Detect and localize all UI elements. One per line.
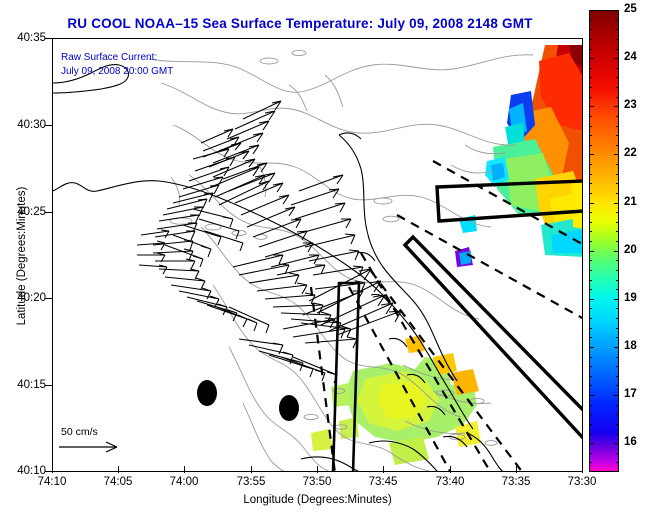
colorbar-minor-tick <box>616 10 619 11</box>
x-tick-label: 73:35 <box>486 476 546 488</box>
colorbar-minor-tick <box>589 443 592 444</box>
colorbar-minor-tick <box>616 20 619 21</box>
colorbar-minor-tick <box>589 405 592 406</box>
sst-map-figure: RU COOL NOAA–15 Sea Surface Temperature:… <box>0 0 651 518</box>
surface-current-vectors <box>137 101 401 383</box>
y-tick <box>45 298 52 299</box>
colorbar-minor-tick <box>616 68 619 69</box>
x-tick-label: 73:40 <box>420 476 480 488</box>
scale-bar-arrow-icon <box>52 438 161 456</box>
x-axis-title: Longitude (Degrees:Minutes) <box>52 494 583 506</box>
map-canvas <box>53 39 583 472</box>
map-plot-area[interactable]: Raw Surface Current: July 09, 2008 20:00… <box>52 38 583 472</box>
colorbar-minor-tick <box>589 87 592 88</box>
colorbar-tick-label: 25 <box>624 3 637 15</box>
colorbar-minor-tick <box>616 203 619 204</box>
colorbar-minor-tick <box>616 164 619 165</box>
colorbar-minor-tick <box>616 414 619 415</box>
colorbar-minor-tick <box>616 231 619 232</box>
colorbar-minor-tick <box>589 58 592 59</box>
colorbar-minor-tick <box>616 270 619 271</box>
colorbar-minor-tick <box>616 453 619 454</box>
y-tick-label: 40:30 <box>0 119 46 131</box>
colorbar-minor-tick <box>589 164 592 165</box>
colorbar-minor-tick <box>616 39 619 40</box>
colorbar-minor-tick <box>589 357 592 358</box>
colorbar-minor-tick <box>616 49 619 50</box>
colorbar-minor-tick <box>616 289 619 290</box>
colorbar-minor-tick <box>589 203 592 204</box>
vertical-lane-polygon <box>333 283 359 472</box>
colorbar-minor-tick <box>616 29 619 30</box>
x-tick <box>582 466 583 473</box>
y-tick <box>45 212 52 213</box>
colorbar-minor-tick <box>616 347 619 348</box>
colorbar-minor-tick <box>616 260 619 261</box>
colorbar-gradient <box>590 11 618 471</box>
colorbar-minor-tick <box>616 87 619 88</box>
colorbar-minor-tick <box>616 183 619 184</box>
colorbar-tick-label: 18 <box>624 340 637 352</box>
colorbar-minor-tick <box>589 241 592 242</box>
colorbar-minor-tick <box>616 222 619 223</box>
x-tick <box>184 466 185 473</box>
colorbar-minor-tick <box>589 193 592 194</box>
scale-bar-label: 50 cm/s <box>52 426 161 438</box>
colorbar-minor-tick <box>589 328 592 329</box>
y-tick-label: 40:35 <box>0 32 46 44</box>
colorbar-tick-label: 23 <box>624 99 637 111</box>
colorbar-minor-tick <box>589 222 592 223</box>
colorbar-minor-tick <box>589 299 592 300</box>
y-tick <box>45 38 52 39</box>
x-tick-label: 73:50 <box>287 476 347 488</box>
x-tick-label: 74:00 <box>154 476 214 488</box>
colorbar-minor-tick <box>589 135 592 136</box>
colorbar-minor-tick <box>589 453 592 454</box>
colorbar-minor-tick <box>589 280 592 281</box>
colorbar-tick-label: 16 <box>624 436 637 448</box>
y-tick <box>45 471 52 472</box>
annotation-line-2: July 09, 2008 20:00 GMT <box>61 65 173 79</box>
colorbar-minor-tick <box>616 443 619 444</box>
colorbar-minor-tick <box>589 366 592 367</box>
colorbar-minor-tick <box>616 357 619 358</box>
x-tick-label: 74:05 <box>88 476 148 488</box>
colorbar-minor-tick <box>616 299 619 300</box>
colorbar-minor-tick <box>616 337 619 338</box>
colorbar-tick-label: 20 <box>624 244 637 256</box>
colorbar-minor-tick <box>589 68 592 69</box>
x-tick <box>52 466 53 473</box>
colorbar-minor-tick <box>589 10 592 11</box>
colorbar-minor-tick <box>589 347 592 348</box>
colorbar-minor-tick <box>616 395 619 396</box>
x-tick <box>516 466 517 473</box>
x-tick-label: 74:10 <box>22 476 82 488</box>
current-annotation: Raw Surface Current: July 09, 2008 20:00… <box>61 51 173 79</box>
figure-title: RU COOL NOAA–15 Sea Surface Temperature:… <box>0 16 600 31</box>
colorbar-minor-tick <box>589 29 592 30</box>
colorbar-minor-tick <box>589 183 592 184</box>
colorbar-minor-tick <box>589 318 592 319</box>
colorbar-tick-label: 22 <box>624 147 637 159</box>
colorbar-minor-tick <box>616 174 619 175</box>
y-axis-title: Latitude (Degrees:Minutes) <box>16 146 28 366</box>
colorbar[interactable] <box>589 10 619 472</box>
sst-raster <box>311 45 583 465</box>
colorbar-minor-tick <box>589 414 592 415</box>
colorbar-minor-tick <box>616 462 619 463</box>
colorbar-minor-tick <box>616 434 619 435</box>
colorbar-tick-label: 19 <box>624 292 637 304</box>
colorbar-minor-tick <box>589 251 592 252</box>
colorbar-minor-tick <box>616 308 619 309</box>
colorbar-minor-tick <box>589 308 592 309</box>
x-tick <box>317 466 318 473</box>
colorbar-minor-tick <box>616 116 619 117</box>
colorbar-minor-tick <box>616 126 619 127</box>
colorbar-minor-tick <box>589 395 592 396</box>
colorbar-minor-tick <box>589 385 592 386</box>
colorbar-minor-tick <box>589 126 592 127</box>
x-tick <box>383 466 384 473</box>
colorbar-minor-tick <box>589 337 592 338</box>
colorbar-minor-tick <box>616 154 619 155</box>
colorbar-minor-tick <box>589 174 592 175</box>
colorbar-minor-tick <box>589 116 592 117</box>
y-tick-label: 40:10 <box>0 465 46 477</box>
x-tick-label: 73:30 <box>552 476 612 488</box>
colorbar-minor-tick <box>616 318 619 319</box>
colorbar-minor-tick <box>616 106 619 107</box>
colorbar-minor-tick <box>616 212 619 213</box>
colorbar-minor-tick <box>589 145 592 146</box>
colorbar-minor-tick <box>589 424 592 425</box>
colorbar-minor-tick <box>616 193 619 194</box>
y-tick-label: 40:15 <box>0 379 46 391</box>
colorbar-tick-label: 21 <box>624 196 637 208</box>
colorbar-minor-tick <box>616 251 619 252</box>
colorbar-minor-tick <box>589 260 592 261</box>
colorbar-minor-tick <box>616 241 619 242</box>
colorbar-minor-tick <box>589 434 592 435</box>
x-tick <box>450 466 451 473</box>
colorbar-minor-tick <box>616 405 619 406</box>
colorbar-minor-tick <box>589 49 592 50</box>
x-tick-label: 73:55 <box>221 476 281 488</box>
colorbar-minor-tick <box>616 366 619 367</box>
scale-bar: 50 cm/s <box>52 426 161 461</box>
colorbar-minor-tick <box>616 97 619 98</box>
colorbar-minor-tick <box>616 376 619 377</box>
colorbar-minor-tick <box>616 280 619 281</box>
colorbar-minor-tick <box>589 106 592 107</box>
colorbar-minor-tick <box>616 385 619 386</box>
colorbar-minor-tick <box>589 154 592 155</box>
colorbar-tick-label: 24 <box>624 51 637 63</box>
colorbar-minor-tick <box>616 328 619 329</box>
x-tick <box>251 466 252 473</box>
colorbar-minor-tick <box>616 77 619 78</box>
colorbar-minor-tick <box>589 39 592 40</box>
colorbar-minor-tick <box>616 424 619 425</box>
colorbar-minor-tick <box>616 58 619 59</box>
colorbar-minor-tick <box>589 231 592 232</box>
x-tick-label: 73:45 <box>353 476 413 488</box>
annotation-line-1: Raw Surface Current: <box>61 51 173 65</box>
colorbar-tick-label: 17 <box>624 388 637 400</box>
y-tick <box>45 125 52 126</box>
colorbar-minor-tick <box>589 270 592 271</box>
colorbar-minor-tick <box>616 145 619 146</box>
colorbar-minor-tick <box>589 97 592 98</box>
colorbar-minor-tick <box>616 135 619 136</box>
colorbar-minor-tick <box>589 462 592 463</box>
x-tick <box>118 466 119 473</box>
colorbar-minor-tick <box>589 20 592 21</box>
colorbar-minor-tick <box>589 289 592 290</box>
colorbar-minor-tick <box>589 376 592 377</box>
y-tick <box>45 385 52 386</box>
colorbar-minor-tick <box>589 77 592 78</box>
colorbar-minor-tick <box>589 212 592 213</box>
